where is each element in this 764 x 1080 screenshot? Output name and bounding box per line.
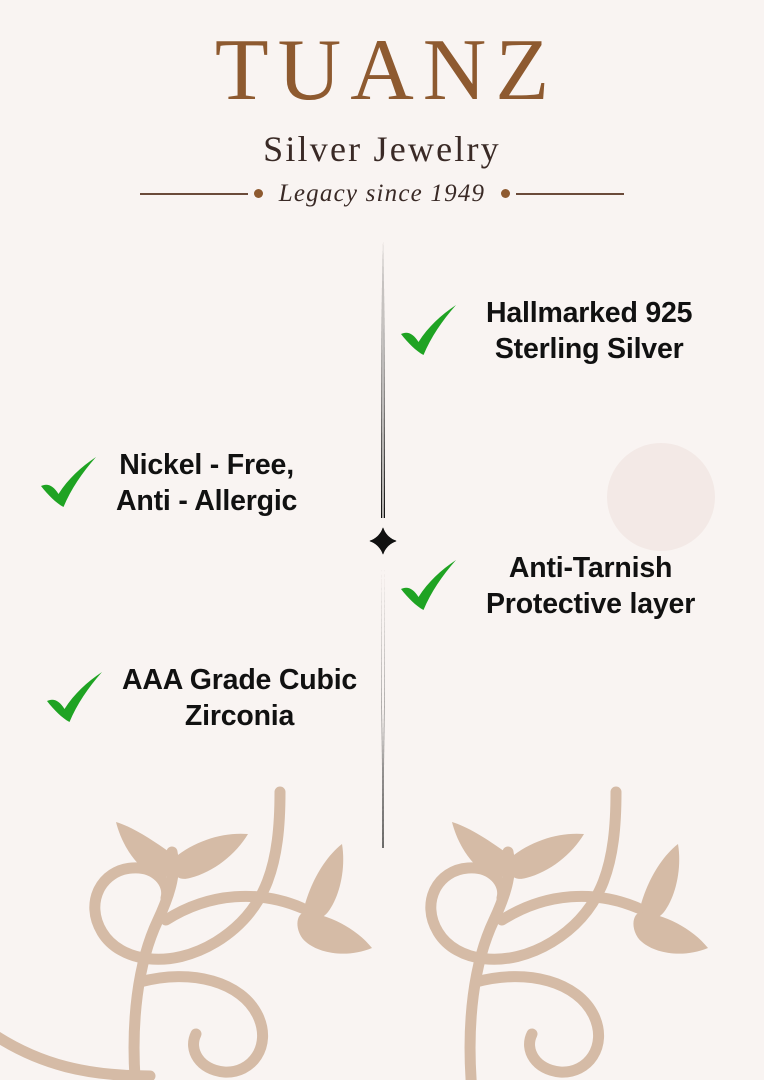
rule-dot-left xyxy=(254,189,263,198)
rule-line-left xyxy=(140,193,248,195)
brand-subtitle: Silver Jewelry xyxy=(0,130,764,170)
feature-label: AAA Grade Cubic Zirconia xyxy=(122,663,357,734)
check-icon xyxy=(398,558,460,616)
feature-item-aaa-cubic-zirconia: AAA Grade Cubic Zirconia xyxy=(44,663,357,734)
poster-canvas: TUANZ Silver Jewelry Legacy since 1949 xyxy=(0,0,764,1080)
feature-item-hallmarked-925: Hallmarked 925 Sterling Silver xyxy=(398,296,692,367)
accent-circle-decoration xyxy=(607,443,715,551)
feature-label: Hallmarked 925 Sterling Silver xyxy=(486,296,692,367)
check-icon xyxy=(38,455,100,513)
brand-tagline: Legacy since 1949 xyxy=(269,180,495,208)
feature-item-nickel-free: Nickel - Free, Anti - Allergic xyxy=(38,448,297,519)
feature-label: Anti-Tarnish Protective layer xyxy=(486,551,695,622)
rule-dot-right xyxy=(501,189,510,198)
check-icon xyxy=(44,670,106,728)
feature-item-anti-tarnish: Anti-Tarnish Protective layer xyxy=(398,551,695,622)
check-icon xyxy=(398,303,460,361)
feature-label: Nickel - Free, Anti - Allergic xyxy=(116,448,297,519)
brand-name: TUANZ xyxy=(0,28,764,114)
rule-line-right xyxy=(516,193,624,195)
brand-header: TUANZ Silver Jewelry Legacy since 1949 xyxy=(0,28,764,208)
brand-divider-rule: Legacy since 1949 xyxy=(0,180,764,208)
quatrefoil-icon xyxy=(370,528,397,555)
